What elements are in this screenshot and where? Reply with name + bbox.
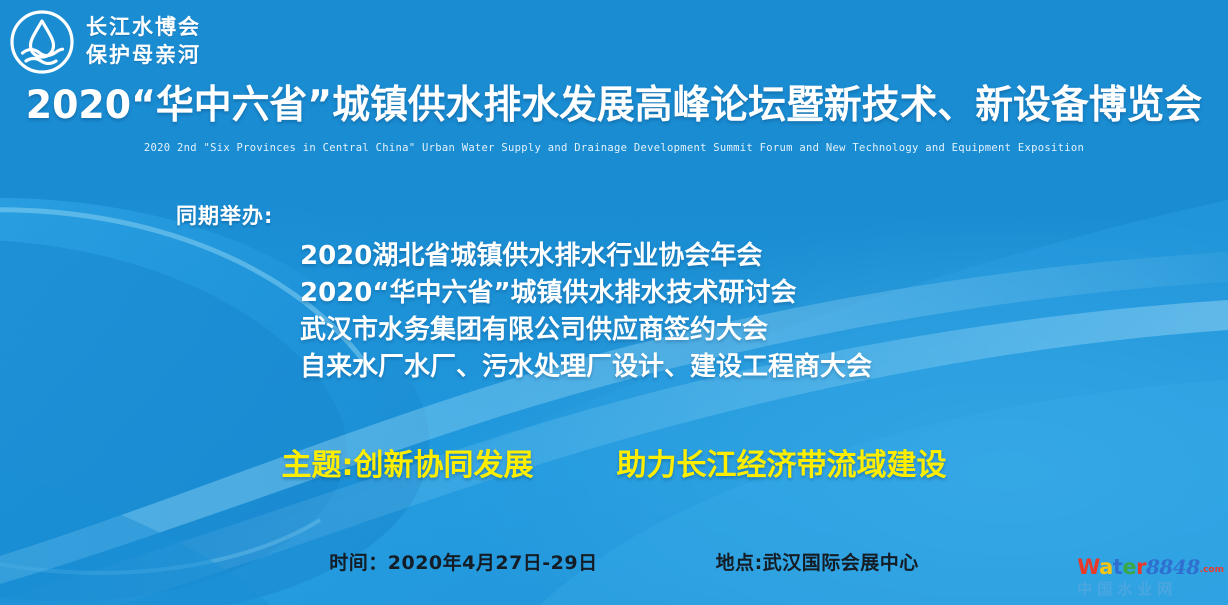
brand-logo[interactable]: 长江水博会 保护母亲河 <box>8 8 201 76</box>
concurrent-events-block: 同期举办: 2020湖北省城镇供水排水行业协会年会 2020“华中六省”城镇供水… <box>176 200 872 386</box>
theme-slogan-right: 助力长江经济带流域建设 <box>616 440 946 484</box>
concurrent-events-label: 同期举办: <box>176 200 872 230</box>
watermark-wordmark: Water8848.com <box>1077 557 1224 578</box>
watermark-letter-e: e <box>1122 555 1136 579</box>
watermark-letter-r: r <box>1136 555 1146 579</box>
watermark-chinese-name: 中国水业网 <box>1077 582 1224 597</box>
water-drop-waves-circle-icon <box>8 8 76 76</box>
page-subtitle-english: 2020 2nd "Six Provinces in Central China… <box>0 142 1228 154</box>
headline-block: 2020“华中六省”城镇供水排水发展高峰论坛暨新技术、新设备博览会 2020 2… <box>0 84 1228 154</box>
concurrent-events-list: 2020湖北省城镇供水排水行业协会年会 2020“华中六省”城镇供水排水技术研讨… <box>300 238 872 386</box>
event-banner: 长江水博会 保护母亲河 2020“华中六省”城镇供水排水发展高峰论坛暨新技术、新… <box>0 0 1228 605</box>
theme-slogan: 主题:创新协同发展 助力长江经济带流域建设 <box>0 440 1228 484</box>
brand-logo-line1: 长江水博会 <box>86 14 201 42</box>
list-item: 2020湖北省城镇供水排水行业协会年会 <box>300 238 872 275</box>
watermark-letter-a: a <box>1099 555 1113 579</box>
list-item: 2020“华中六省”城镇供水排水技术研讨会 <box>300 275 872 312</box>
watermark-letter-w: W <box>1077 555 1099 579</box>
brand-logo-line2: 保护母亲河 <box>86 42 201 70</box>
watermark-tld: .com <box>1200 565 1224 575</box>
list-item: 自来水厂水厂、污水处理厂设计、建设工程商大会 <box>300 349 872 386</box>
site-watermark: Water8848.com 中国水业网 <box>1077 557 1224 597</box>
page-title: 2020“华中六省”城镇供水排水发展高峰论坛暨新技术、新设备博览会 <box>18 84 1209 128</box>
event-venue: 地点:武汉国际会展中心 <box>716 548 919 575</box>
watermark-number: 8848 <box>1146 555 1200 579</box>
brand-logo-text: 长江水博会 保护母亲河 <box>86 14 201 69</box>
theme-slogan-left: 主题:创新协同发展 <box>282 440 534 484</box>
event-date: 时间：2020年4月27日-29日 <box>329 548 597 575</box>
watermark-letter-t: t <box>1113 555 1123 579</box>
list-item: 武汉市水务集团有限公司供应商签约大会 <box>300 312 872 349</box>
footer-meta: 时间：2020年4月27日-29日 地点:武汉国际会展中心 <box>0 548 1228 575</box>
